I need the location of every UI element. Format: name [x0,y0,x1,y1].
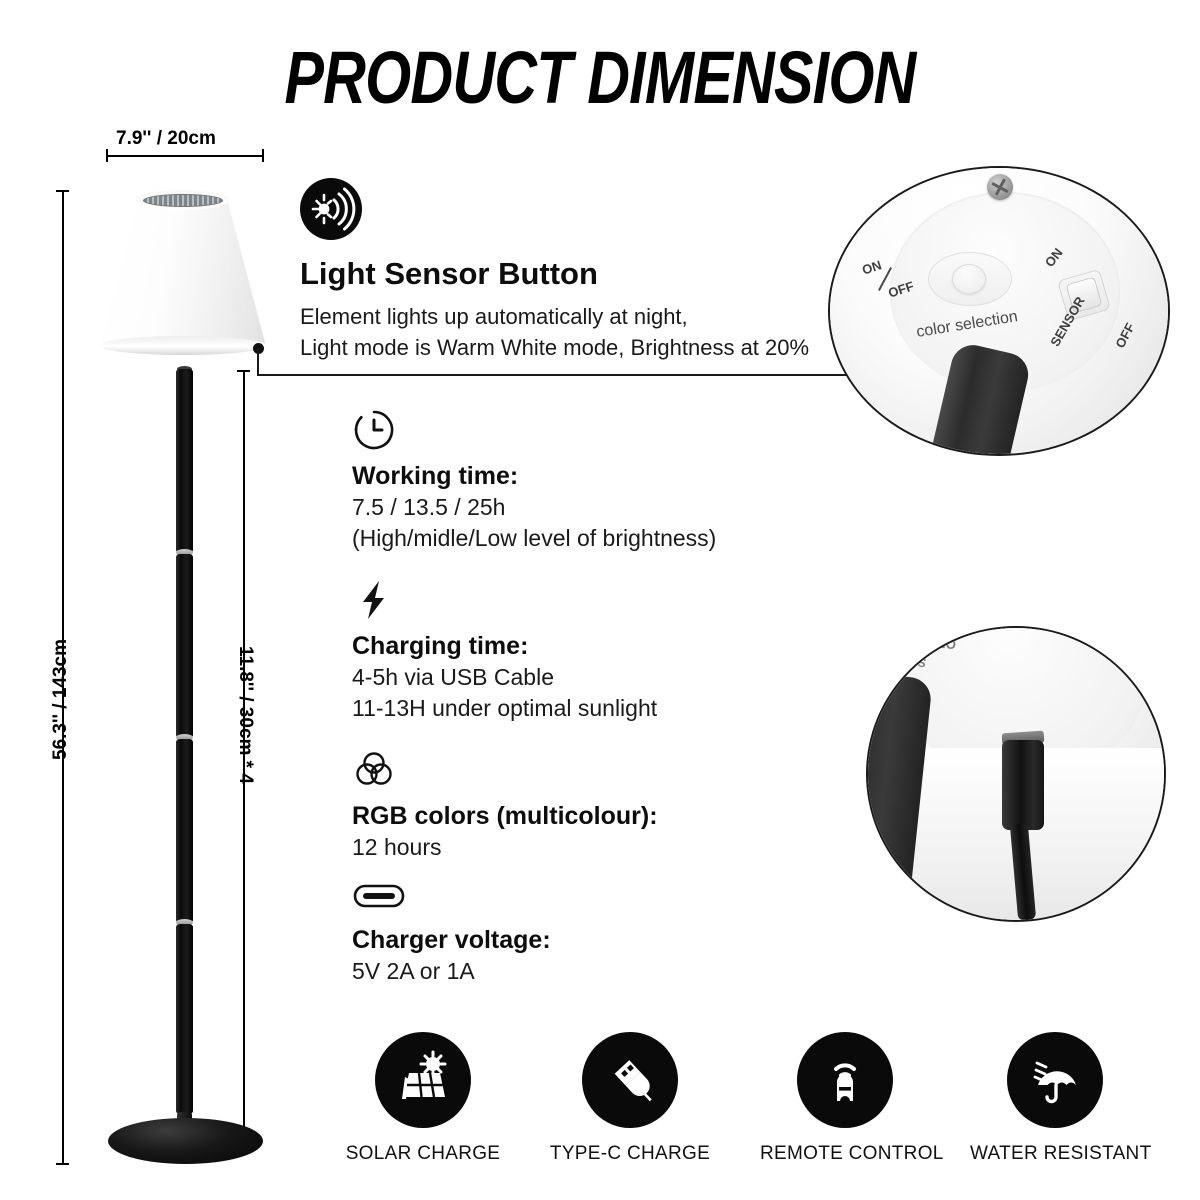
badge-water-resistant: WATER RESISTANT [970,1032,1140,1165]
light-sensor-line-1: Element lights up automatically at night… [300,301,860,332]
usb-c-plug [1002,740,1044,830]
pole-dim-cap-top [237,370,250,372]
infographic-page: PRODUCT DIMENSION 7.9'' / 20cm 56.3'' / … [0,0,1200,1200]
lightning-bolt-icon [352,578,872,627]
rgb-colors-line-1: 12 hours [352,832,872,863]
badge-remote-control: REMOTE CONTROL [760,1032,930,1165]
pole-segment-4 [176,924,193,1114]
width-dim-cap-left [106,149,108,162]
lamp-illustration: 7.9'' / 20cm 56.3'' / 143cm 11.8'' / 30c… [0,0,330,1200]
charger-voltage-heading: Charger voltage: [352,925,872,956]
badge-type-c-charge: TYPE-C CHARGE [545,1032,715,1165]
width-dim-cap-right [262,149,264,162]
width-dimension-label: 7.9'' / 20cm [116,128,216,150]
rgb-venn-icon [352,748,872,797]
pole-segment-3 [176,739,193,923]
spec-charging-time: Charging time: 4-5h via USB Cable 11-13H… [352,578,872,724]
lamp-shade-bottom-rim [99,336,267,355]
lamp-base-disc [108,1118,263,1164]
solar-panel-strip [143,194,223,207]
charging-time-line-2: 11-13H under optimal sunlight [352,693,872,724]
height-dim-cap-bottom [56,1163,69,1165]
umbrella-rain-icon [1007,1032,1103,1128]
width-dimension-line [106,155,264,157]
spec-charger-voltage: Charger voltage: 5V 2A or 1A [352,878,872,987]
badge-solar-charge: SOLAR CHARGE [338,1032,508,1165]
spec-working-time: Working time: 7.5 / 13.5 / 25h (High/mid… [352,408,872,554]
lamp-shade [100,196,266,346]
screw-icon [987,174,1013,200]
callout-line-vertical [257,348,259,376]
callout-line-horizontal [257,374,877,376]
usb-c-port-icon [352,878,872,919]
working-time-heading: Working time: [352,461,872,492]
badge-label-type-c-charge: TYPE-C CHARGE [545,1143,715,1165]
badge-label-remote-control: REMOTE CONTROL [760,1143,930,1165]
working-time-line-1: 7.5 / 13.5 / 25h [352,492,872,523]
light-sensor-icon [300,178,860,245]
port-off-label: OFF [929,635,956,653]
badge-label-solar-charge: SOLAR CHARGE [338,1143,508,1165]
usb-c-charging-port-photo: OFF SOR [866,626,1166,922]
pole-segment-2 [176,554,193,738]
pole-dimension-label: 11.8'' / 30cm * 4 [234,646,256,784]
light-sensor-block: Light Sensor Button Element lights up au… [300,178,860,363]
rgb-colors-heading: RGB colors (multicolour): [352,801,872,832]
spec-rgb-colors: RGB colors (multicolour): 12 hours [352,748,872,863]
clock-icon [352,408,872,457]
lamp-underside-controls-photo: ON OFF color selection ON SENSOR OFF [828,166,1170,456]
light-sensor-heading: Light Sensor Button [300,255,860,292]
charging-time-line-1: 4-5h via USB Cable [352,662,872,693]
solar-panel-icon [375,1032,471,1128]
height-dimension-label: 56.3'' / 143cm [50,639,72,760]
charging-time-heading: Charging time: [352,631,872,662]
remote-signal-icon [797,1032,893,1128]
usb-plug-icon [582,1032,678,1128]
light-sensor-line-2: Light mode is Warm White mode, Brightnes… [300,332,860,363]
badge-label-water-resistant: WATER RESISTANT [970,1143,1140,1165]
pole-segment-1 [176,369,193,553]
charger-voltage-line-1: 5V 2A or 1A [352,956,872,987]
height-dim-cap-top [56,190,69,192]
working-time-line-2: (High/midle/Low level of brightness) [352,523,872,554]
color-selection-button[interactable] [952,264,986,294]
port-sensor-label: SOR [897,653,927,671]
